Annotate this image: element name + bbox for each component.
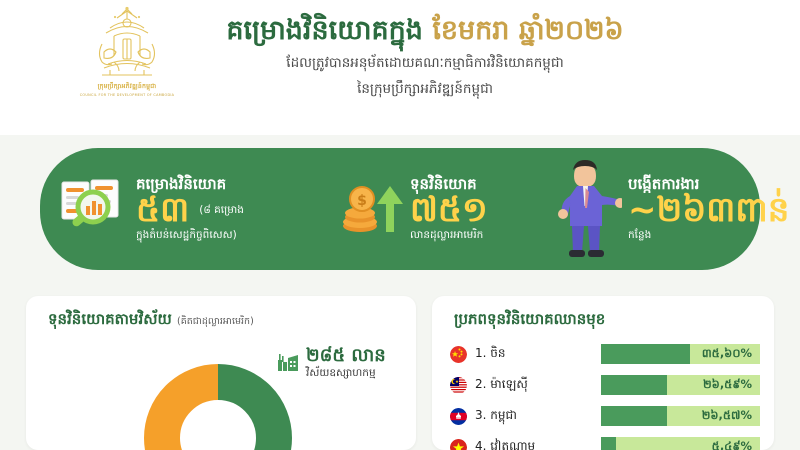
top-sources-card: ប្រភពទុនវិនិយោគឈានមុខ 1. ចិន ៣៥,៦០%	[432, 296, 774, 450]
country-name: 4. វៀតណាម	[467, 438, 601, 450]
bar-value-label: ២៦,៥៧%	[702, 408, 752, 425]
table-row: 4. វៀតណាម ៥,៤៩%	[450, 433, 760, 450]
bar-fill	[601, 406, 667, 426]
table-row: 1. ចិន ៣៥,៦០%	[450, 340, 760, 368]
sector-card-title-unit: (គិតជាដុល្លារអាមេរិក)	[177, 316, 254, 327]
stat-projects-note: ក្នុងតំបន់សេដ្ឋកិច្ចពិសេស)	[136, 229, 244, 243]
cambodia-royal-emblem-icon	[84, 6, 170, 82]
title-green-part: គម្រោងវិនិយោគក្នុង	[226, 15, 423, 46]
flag-malaysia-icon	[450, 377, 467, 394]
country-name: 3. កម្ពុជា	[467, 407, 601, 425]
stat-capital-unit: លានដុល្លារអាមេរិក	[410, 229, 488, 243]
coins-up-arrow-icon: $	[340, 176, 404, 242]
stat-jobs-text: បង្កើតការងារ ~២៦៣ពាន់ កន្លែង	[622, 175, 789, 242]
country-rank: 4.	[475, 439, 486, 450]
sector-highlight-value: ២៨៥ លាន	[306, 346, 386, 366]
flag-vietnam-icon	[450, 439, 467, 450]
country-rank: 1.	[475, 346, 486, 360]
sector-highlight-name: វិស័យឧស្សាហកម្ម	[306, 366, 386, 381]
bar-track: ២៦,៥៧%	[601, 406, 760, 426]
bar-fill	[601, 344, 690, 364]
svg-text:$: $	[357, 193, 367, 209]
title-block: គម្រោងវិនិយោគក្នុង ខែមករា ឆ្នាំ២០២៦ ដែលត…	[190, 14, 660, 100]
stat-projects-text: គម្រោងវិនិយោគ ៥៣ (៨ គម្រោង ក្នុងតំបន់សេដ…	[130, 175, 244, 242]
country-label: វៀតណាម	[490, 439, 535, 450]
stat-jobs: បង្កើតការងារ ~២៦៣ពាន់ កន្លែង	[550, 148, 760, 270]
country-label: កម្ពុជា	[490, 408, 517, 422]
stat-capital-text: ទុនវិនិយោគ ៧៥១ លានដុល្លារអាមេរិក	[404, 175, 488, 242]
stat-capital: $ ទុនវិនិយោគ ៧៥១ លានដុល្លារអាមេរិក	[340, 148, 550, 270]
country-name: 2. ម៉ាឡេស៊ី	[467, 376, 601, 394]
table-row: 3. កម្ពុជា ២៦,៥៧%	[450, 402, 760, 430]
country-rank: 2.	[475, 377, 486, 391]
page-title: គម្រោងវិនិយោគក្នុង ខែមករា ឆ្នាំ២០២៦	[190, 14, 660, 48]
sources-card-title: ប្រភពទុនវិនិយោគឈានមុខ	[432, 296, 774, 328]
bar-value-label: ៥,៤៩%	[712, 439, 752, 450]
bar-track: ៥,៤៩%	[601, 437, 760, 450]
businessman-icon	[550, 152, 622, 266]
sector-donut-chart	[138, 358, 298, 450]
title-gold-part: ខែមករា ឆ្នាំ២០២៦	[432, 15, 623, 46]
country-name: 1. ចិន	[467, 345, 601, 363]
country-rank: 3.	[475, 408, 486, 422]
country-label: ម៉ាឡេស៊ី	[490, 377, 528, 391]
key-stats-banner: គម្រោងវិនិយោគ ៥៣ (៨ គម្រោង ក្នុងតំបន់សេដ…	[40, 148, 760, 270]
documents-magnifier-icon	[58, 176, 130, 242]
stat-jobs-value: ~២៦៣ពាន់	[628, 193, 789, 229]
country-label: ចិន	[490, 346, 505, 360]
stat-projects-value: ៥៣	[136, 193, 189, 229]
sector-card-title-text: ទុនវិនិយោគតាមវិស័យ	[48, 310, 172, 328]
sector-card-title: ទុនវិនិយោគតាមវិស័យ (គិតជាដុល្លារអាមេរិក)	[26, 296, 416, 328]
cdc-logo: ក្រុមប្រឹក្សាអភិវឌ្ឍន៍កម្ពុជា COUNCIL FO…	[72, 6, 182, 114]
flag-cambodia-icon	[450, 408, 467, 425]
stat-projects-inline-note: (៨ គម្រោង	[194, 204, 244, 219]
flag-china-icon	[450, 346, 467, 363]
bar-fill	[601, 375, 667, 395]
sector-investment-card: ទុនវិនិយោគតាមវិស័យ (គិតជាដុល្លារអាមេរិក)	[26, 296, 416, 450]
logo-khmer-name: ក្រុមប្រឹក្សាអភិវឌ្ឍន៍កម្ពុជា	[98, 83, 157, 92]
stat-capital-value: ៧៥១	[410, 193, 488, 229]
subtitle-line-2: នៃក្រុមប្រឹក្សាអភិវឌ្ឍន៍កម្ពុជា	[190, 79, 660, 100]
bar-value-label: ៣៥,៦០%	[702, 346, 752, 363]
bar-value-label: ២៦,៥៩%	[703, 377, 752, 394]
country-rank-list: 1. ចិន ៣៥,៦០%	[450, 340, 760, 450]
logo-english-name: COUNCIL FOR THE DEVELOPMENT OF CAMBODIA	[80, 93, 175, 97]
header: ក្រុមប្រឹក្សាអភិវឌ្ឍន៍កម្ពុជា COUNCIL FO…	[0, 0, 800, 135]
table-row: 2. ម៉ាឡេស៊ី ២៦,៥៩%	[450, 371, 760, 399]
bar-fill	[601, 437, 616, 450]
stat-projects: គម្រោងវិនិយោគ ៥៣ (៨ គម្រោង ក្នុងតំបន់សេដ…	[40, 148, 340, 270]
infographic-page: ក្រុមប្រឹក្សាអភិវឌ្ឍន៍កម្ពុជា COUNCIL FO…	[0, 0, 800, 450]
bar-track: ៣៥,៦០%	[601, 344, 760, 364]
subtitle-line-1: ដែលត្រូវបានអនុម័តដោយគណៈកម្មាធិការវិនិយោគ…	[190, 53, 660, 74]
bar-track: ២៦,៥៩%	[601, 375, 760, 395]
cards-row: ទុនវិនិយោគតាមវិស័យ (គិតជាដុល្លារអាមេរិក)	[0, 296, 800, 450]
stat-jobs-unit: កន្លែង	[628, 229, 789, 243]
